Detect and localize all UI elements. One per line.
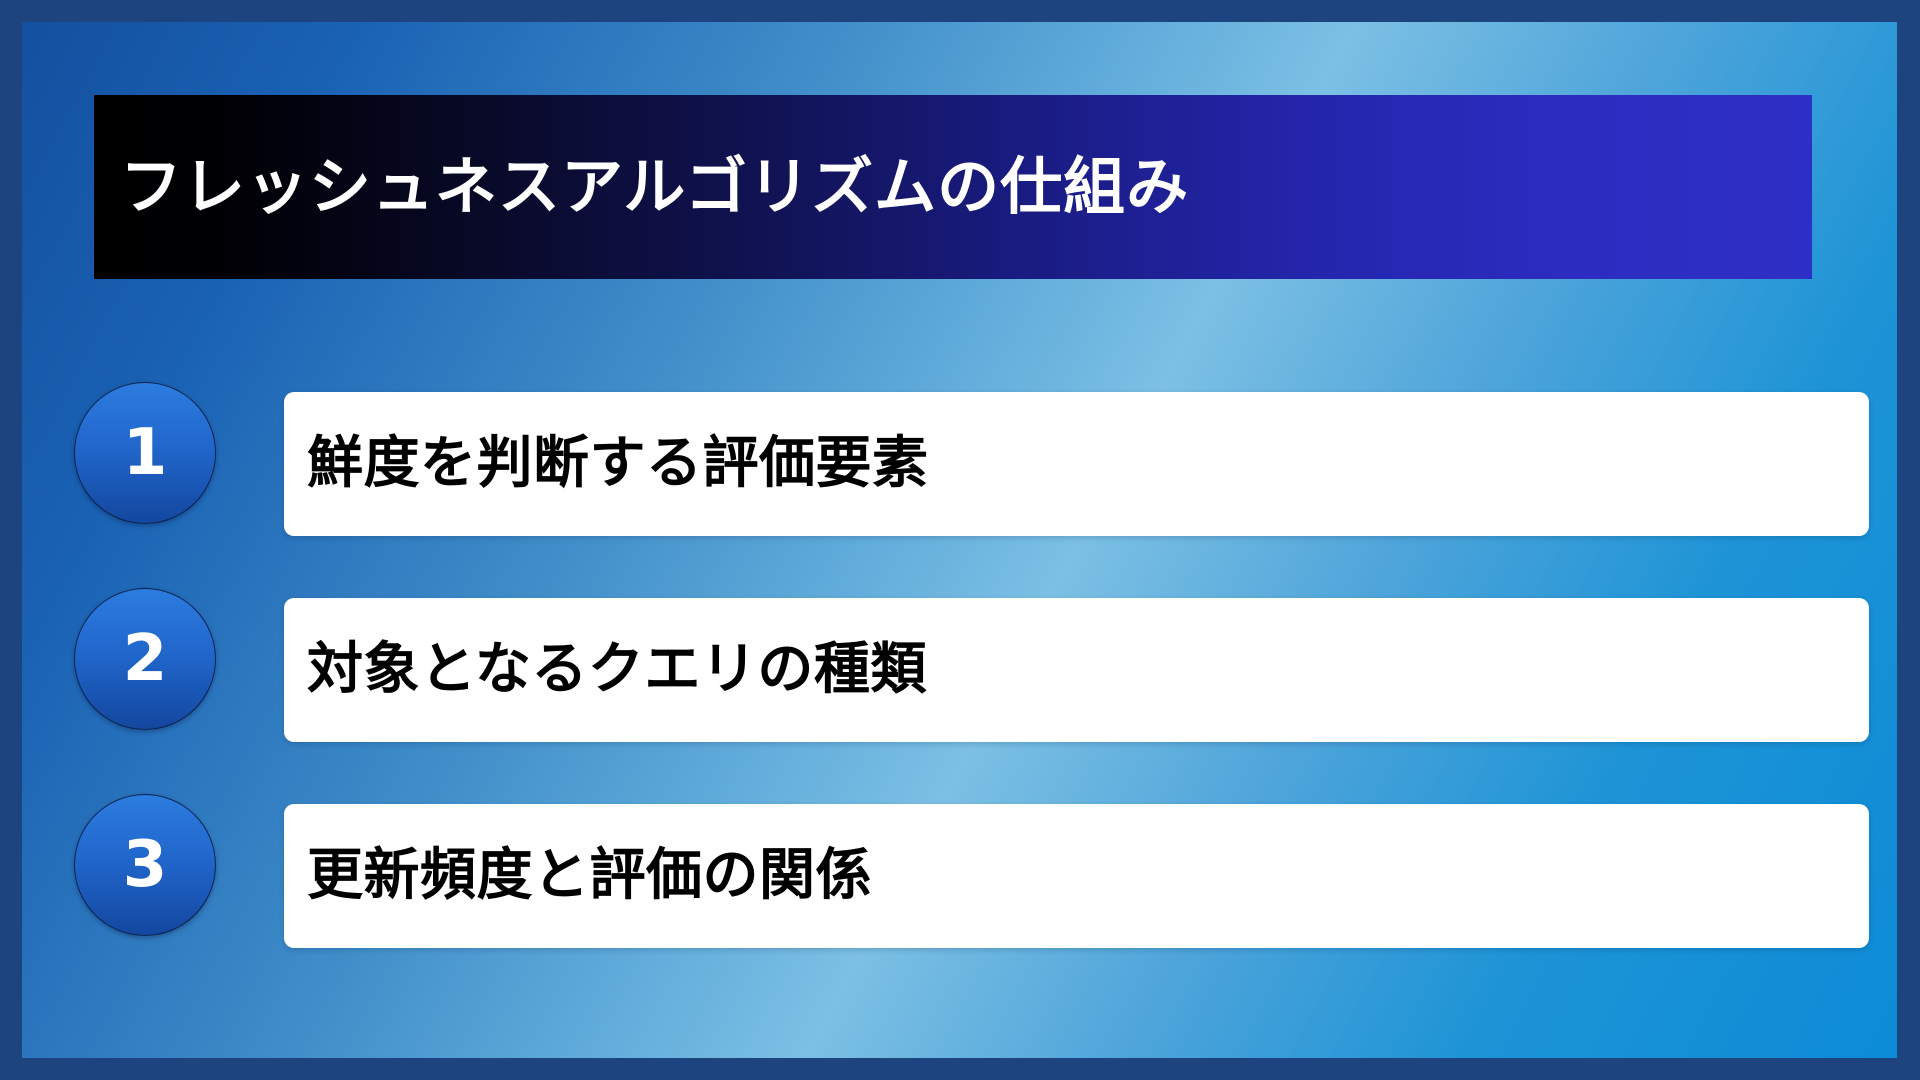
slide-title: フレッシュネスアルゴリズムの仕組み: [94, 153, 1189, 221]
step-badge-1: 1: [74, 382, 216, 524]
step-badge-3: 3: [74, 794, 216, 936]
step-number-label: 3: [123, 833, 168, 897]
step-number-label: 1: [123, 421, 168, 485]
list-item: 3 更新頻度と評価の関係: [22, 794, 1897, 940]
step-card-3[interactable]: 更新頻度と評価の関係: [284, 804, 1869, 948]
step-number-label: 2: [123, 627, 168, 691]
step-list: 1 鮮度を判断する評価要素 2 対象となるクエリの種類 3: [22, 382, 1897, 940]
slide: フレッシュネスアルゴリズムの仕組み 1 鮮度を判断する評価要素 2 対象となるク…: [0, 0, 1920, 1080]
step-card-1[interactable]: 鮮度を判断する評価要素: [284, 392, 1869, 536]
slide-title-bar: フレッシュネスアルゴリズムの仕組み: [94, 95, 1812, 279]
step-card-label: 対象となるクエリの種類: [284, 638, 927, 702]
step-card-label: 鮮度を判断する評価要素: [284, 432, 929, 496]
list-item: 1 鮮度を判断する評価要素: [22, 382, 1897, 528]
step-badge-2: 2: [74, 588, 216, 730]
step-card-2[interactable]: 対象となるクエリの種類: [284, 598, 1869, 742]
slide-canvas: フレッシュネスアルゴリズムの仕組み 1 鮮度を判断する評価要素 2 対象となるク…: [22, 22, 1897, 1058]
step-card-label: 更新頻度と評価の関係: [284, 844, 872, 908]
list-item: 2 対象となるクエリの種類: [22, 588, 1897, 734]
